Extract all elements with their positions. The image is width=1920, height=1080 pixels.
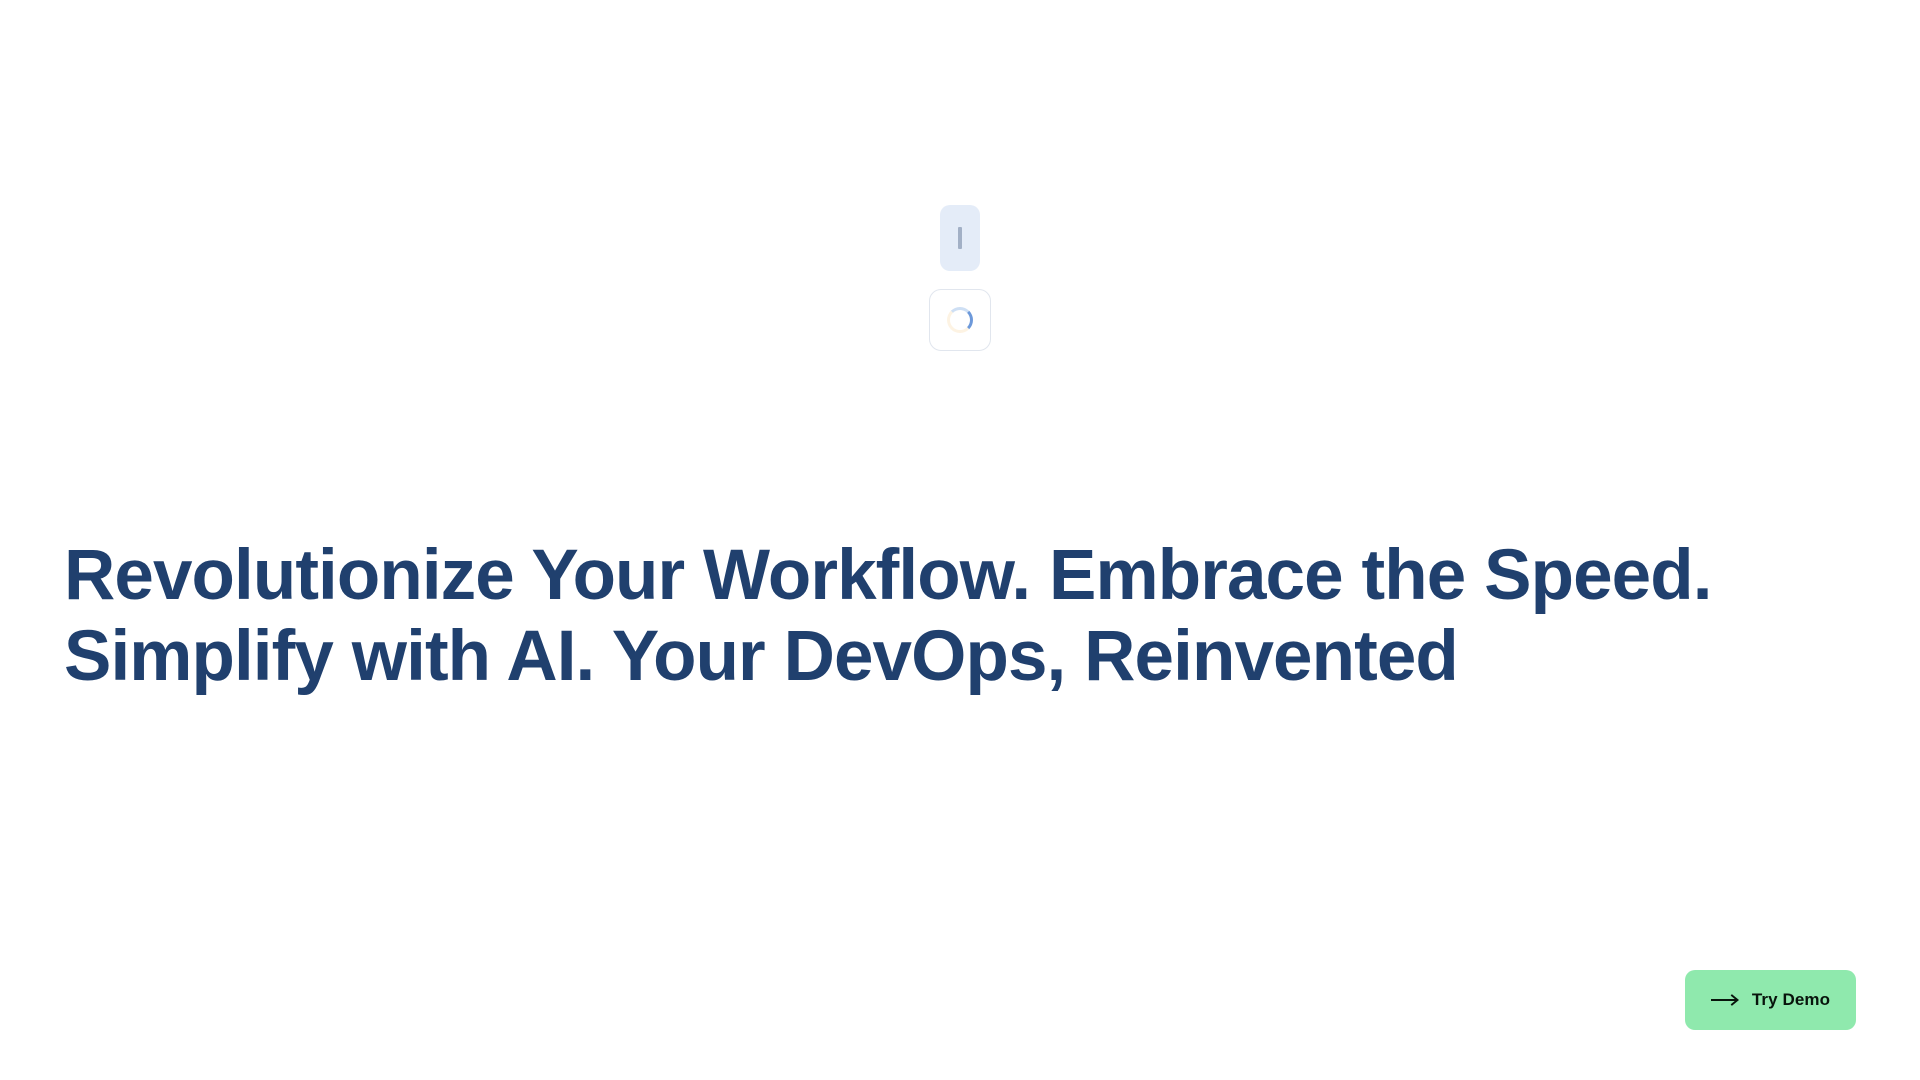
try-demo-label: Try Demo (1752, 990, 1830, 1010)
page-title: Revolutionize Your Workflow. Embrace the… (64, 536, 1854, 698)
text-cursor-chip[interactable] (940, 205, 980, 271)
arrow-right-icon (1711, 994, 1741, 1006)
hero-section: Revolutionize Your Workflow. Embrace the… (64, 536, 1854, 698)
status-widget-stack (929, 205, 991, 351)
loading-card[interactable] (929, 289, 991, 351)
try-demo-button[interactable]: Try Demo (1685, 970, 1856, 1030)
spinner-icon (947, 307, 973, 333)
text-cursor-icon (958, 227, 962, 249)
